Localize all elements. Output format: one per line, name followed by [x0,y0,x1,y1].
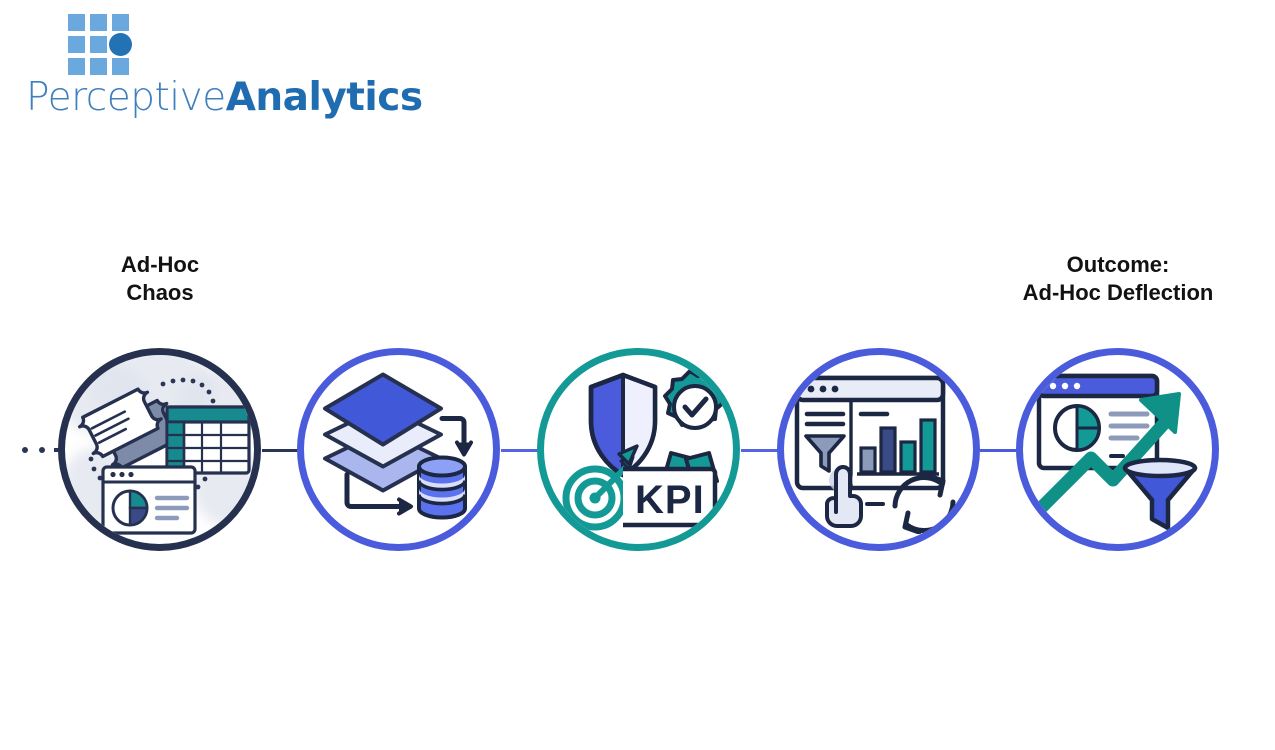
step-self-serve-dashboard[interactable] [777,348,980,551]
perceptive-analytics-grid-logo-icon [68,14,130,76]
brand-wordmark: PerceptiveAnalytics [26,78,326,117]
step-ad-hoc-chaos[interactable] [58,348,261,551]
funnel-icon [1125,460,1195,528]
kpi-label: KPI [635,478,705,522]
self-serve-dashboard-art [789,366,969,534]
dashboard-window-icon [797,378,943,488]
ad-hoc-deflection-art [1029,366,1207,534]
data-layers-art [309,362,489,537]
dotted-swirl-icon [160,377,215,403]
diagram-canvas: PerceptiveAnalytics Ad-Hoc Chaos Outcome… [0,0,1275,750]
arrow-down-icon [442,418,471,454]
stage-label-ad-hoc-deflection: Outcome: Ad-Hoc Deflection [988,251,1248,307]
step-ad-hoc-deflection[interactable] [1016,348,1219,551]
brand-word-perceptive: Perceptive [26,75,226,120]
spreadsheet-table-icon [167,407,249,473]
step-governance-kpi[interactable]: KPI [537,348,740,551]
connector-1-2 [501,449,540,452]
stage-label-ad-hoc-chaos: Ad-Hoc Chaos [58,251,262,307]
database-cylinder-icon [419,457,465,517]
connector-0-1 [262,449,300,452]
step-data-layers[interactable] [297,348,500,551]
brand-word-analytics: Analytics [226,75,423,120]
brand-logo: PerceptiveAnalytics [26,12,326,122]
connector-3-4 [980,449,1019,452]
dashboard-pie-window-icon [103,467,195,533]
governance-kpi-art: KPI [551,365,727,535]
ad-hoc-chaos-art [65,355,254,544]
connector-2-3 [741,449,780,452]
